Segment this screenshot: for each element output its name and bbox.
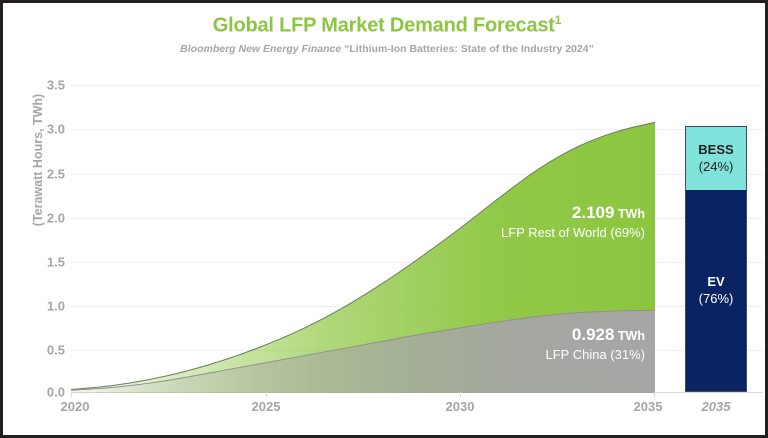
y-tick-label: 2.5 (21, 167, 65, 182)
y-tick-label: 1.5 (21, 255, 65, 270)
bar-segment-bess: BESS (24%) (686, 127, 746, 190)
y-tick-label: 0.0 (21, 385, 65, 400)
x-tick-label-2020: 2020 (61, 399, 90, 414)
series-name-rest-of-world: LFP Rest of World (69%) (501, 225, 645, 240)
y-tick-label: 3.0 (21, 122, 65, 137)
bar-segment-ev-name: EV (707, 274, 724, 290)
series-value-china: 0.928 (572, 325, 615, 344)
x-tick-mark (654, 392, 655, 397)
chart-subtitle: Bloomberg New Energy Finance “Lithium-Io… (3, 43, 768, 55)
x-tick-mark (71, 392, 72, 397)
y-tick-label: 3.5 (21, 78, 65, 93)
y-tick-label: 1.0 (21, 299, 65, 314)
series-unit-china: TWh (618, 329, 645, 343)
stacked-bar-2035: BESS (24%) EV (76%) (685, 126, 747, 392)
bar-segment-bess-pct: (24%) (699, 159, 734, 175)
y-tick-label: 0.5 (21, 343, 65, 358)
series-unit-rest-of-world: TWh (618, 207, 645, 221)
x-tick-mark (266, 392, 267, 397)
series-label-lfp-rest-of-world: 2.109 TWh LFP Rest of World (69%) (501, 203, 645, 240)
chart-figure: Global LFP Market Demand Forecast1 Bloom… (0, 0, 768, 438)
chart-subtitle-report: “Lithium-Ion Batteries: State of the Ind… (344, 43, 594, 55)
y-tick-label: 2.0 (21, 211, 65, 226)
chart-title: Global LFP Market Demand Forecast1 (3, 13, 768, 38)
x-tick-label-2030: 2030 (446, 399, 475, 414)
chart-subtitle-source: Bloomberg New Energy Finance (180, 43, 341, 55)
bar-segment-ev-pct: (76%) (699, 291, 734, 307)
chart-title-text: Global LFP Market Demand Forecast (213, 15, 555, 37)
series-value-rest-of-world: 2.109 (572, 203, 615, 222)
x-tick-label-2035: 2035 (634, 399, 663, 414)
x-tick-mark (460, 392, 461, 397)
series-name-china: LFP China (31%) (546, 347, 645, 362)
y-axis-ticks: 3.5 3.0 2.5 2.0 1.5 1.0 0.5 0.0 (17, 3, 65, 438)
series-label-lfp-china: 0.928 TWh LFP China (31%) (546, 325, 645, 362)
bar-segment-bess-name: BESS (698, 142, 733, 158)
bar-segment-ev: EV (76%) (686, 190, 746, 391)
stacked-bar-axis-label: 2035 (702, 399, 731, 414)
chart-title-footnote-marker: 1 (555, 13, 561, 27)
x-tick-label-2025: 2025 (252, 399, 281, 414)
